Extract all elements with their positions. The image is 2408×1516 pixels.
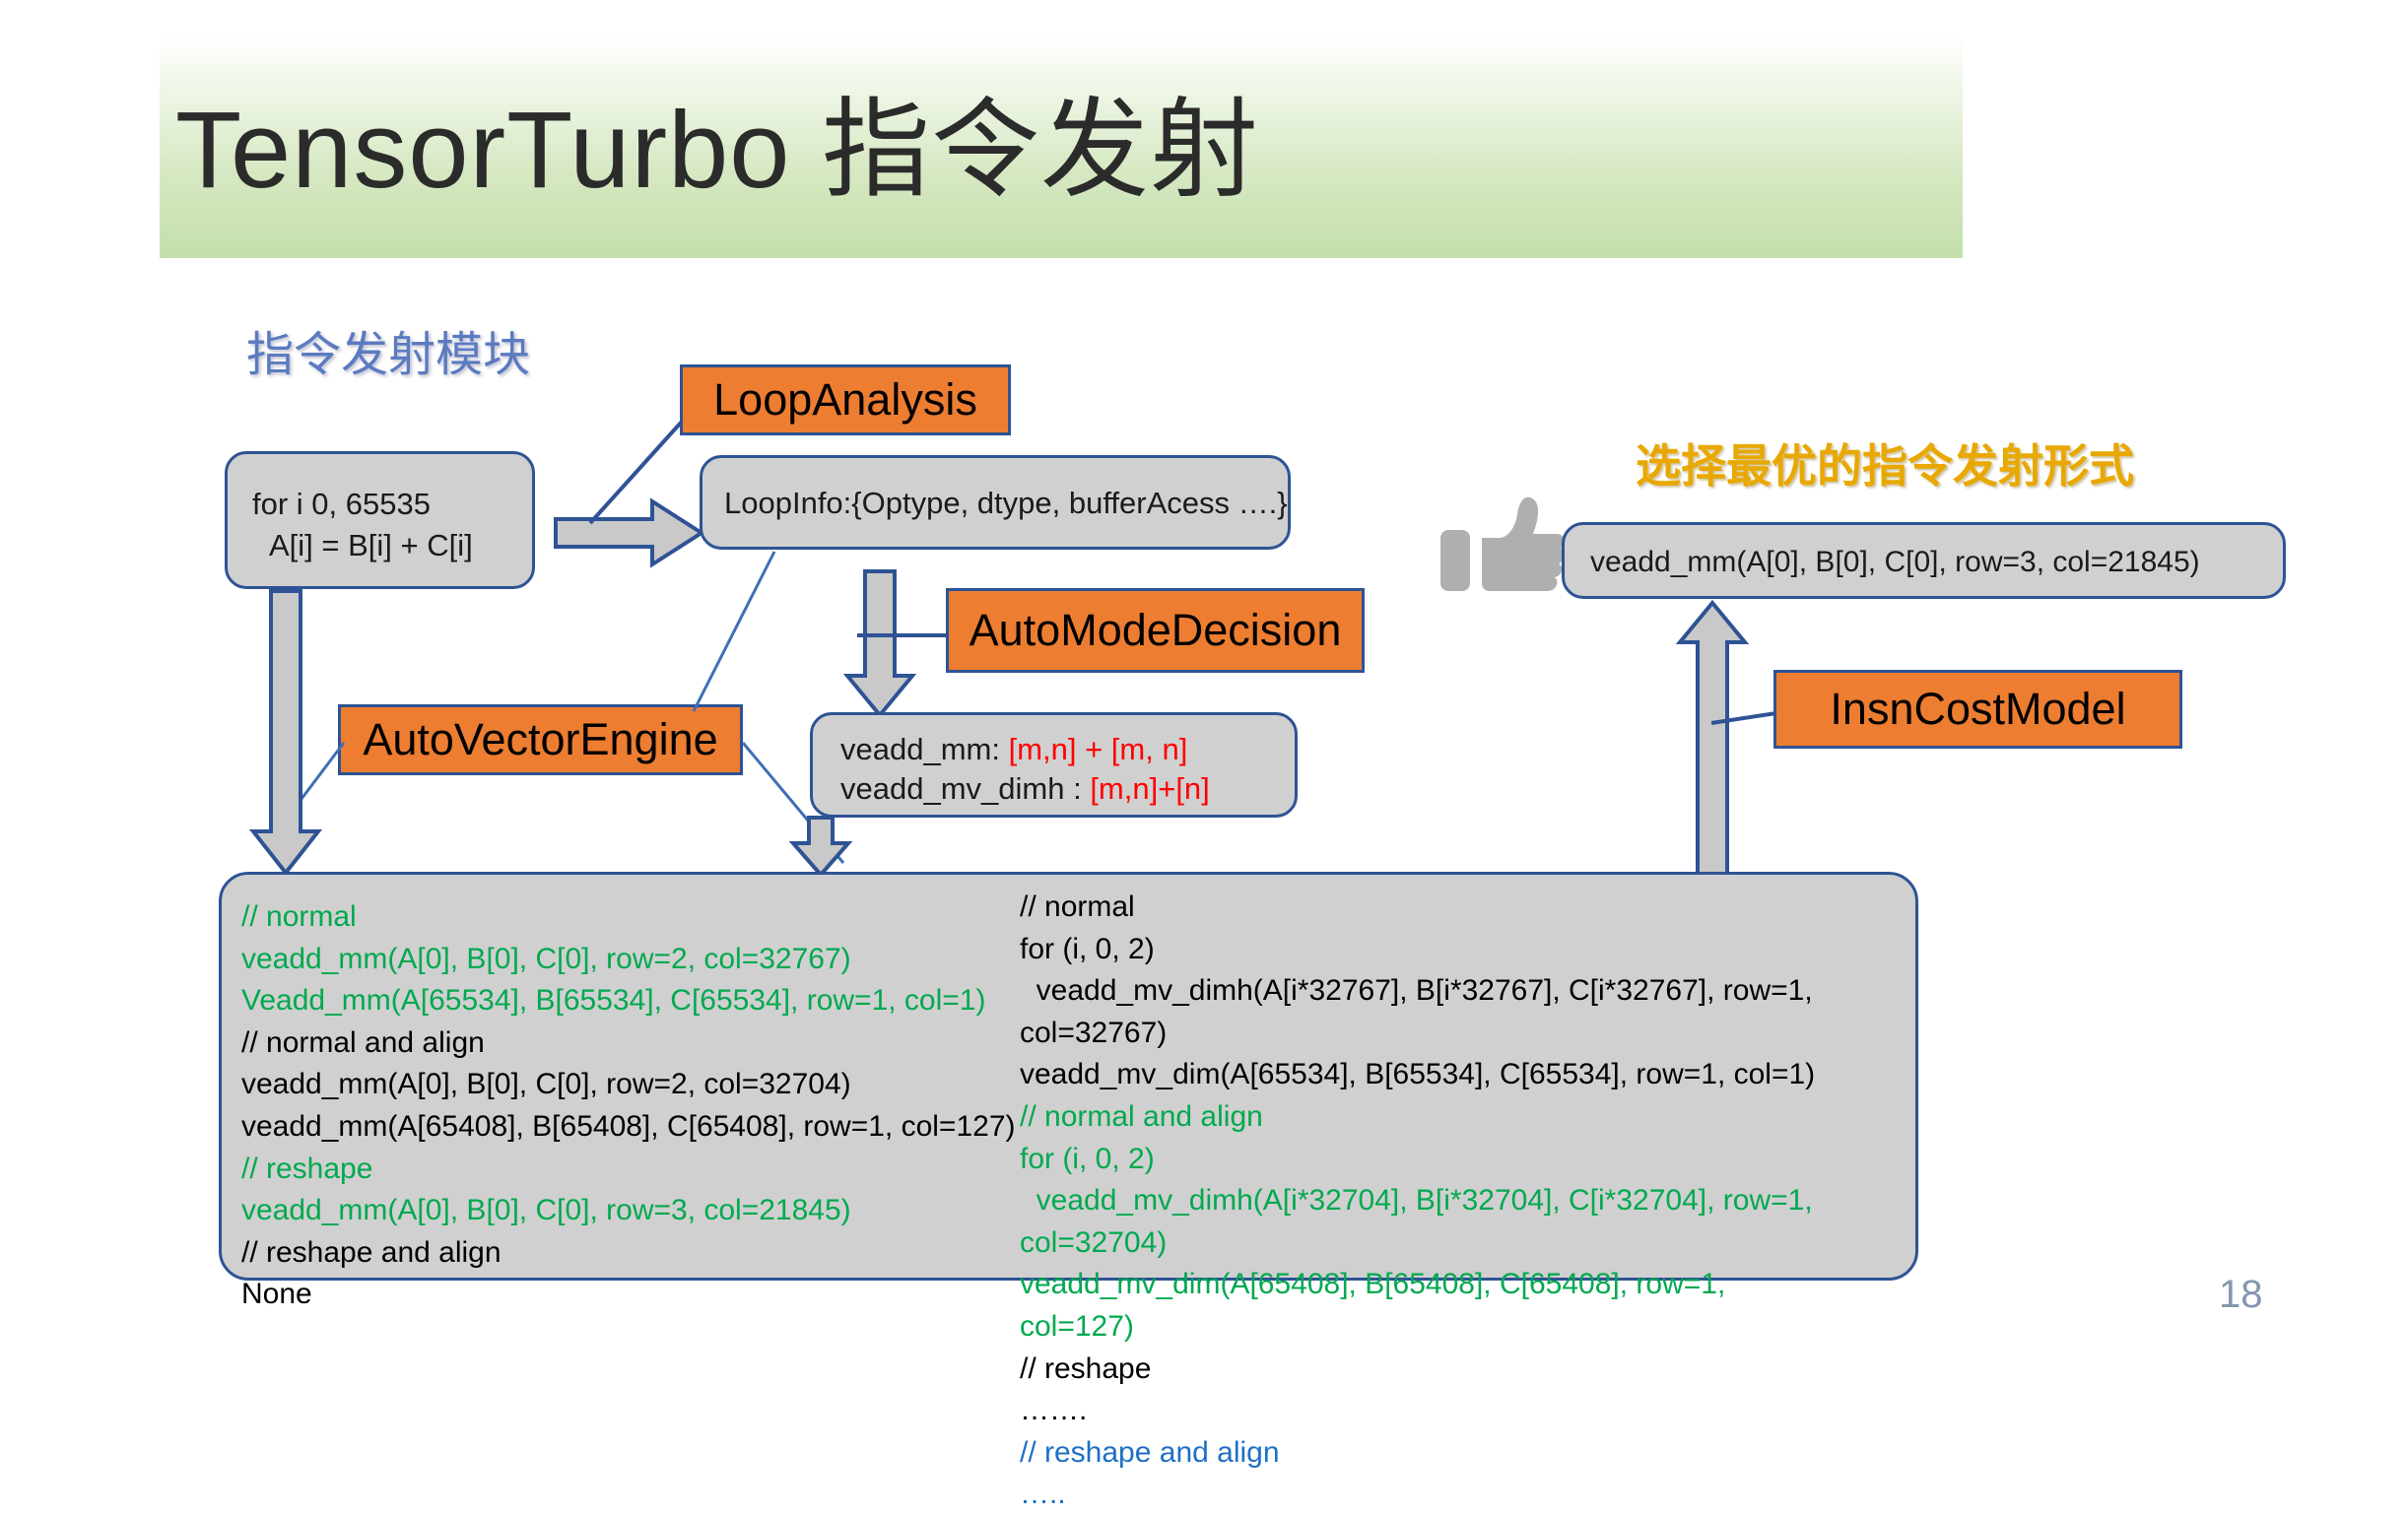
thumbs-up-icon: [1438, 493, 1567, 601]
code-line: veadd_mm(A[0], B[0], C[0], row=2, col=32…: [241, 1064, 1020, 1106]
loop-info-text: LoopInfo:{Optype, dtype, bufferAcess ….}: [724, 486, 1288, 521]
arrow-source-to-code-left: [246, 589, 325, 875]
loop-info-box: LoopInfo:{Optype, dtype, bufferAcess ….}: [700, 455, 1291, 550]
mode-1-shape: [m,n] + [m, n]: [1009, 732, 1188, 766]
source-loop-line1: for i 0, 65535: [252, 487, 431, 522]
mode-1-name: veadd_mm:: [840, 732, 1009, 766]
arrow-code-to-best-choice: [1675, 601, 1750, 877]
mode-2-name: veadd_mv_dimh :: [840, 771, 1090, 806]
code-line: // normal: [241, 896, 1020, 939]
code-line: // normal and align: [1020, 1096, 1838, 1139]
code-column-left: // normalveadd_mm(A[0], B[0], C[0], row=…: [241, 896, 1020, 1316]
section-label: 指令发射模块: [246, 315, 530, 384]
module-insn-cost-model[interactable]: InsnCostModel: [1773, 670, 2182, 749]
code-line: // reshape and align: [241, 1232, 1020, 1275]
code-line: veadd_mv_dimh(A[i*32767], B[i*32767], C[…: [1020, 970, 1838, 1054]
arrow-loopinfo-to-modes: [842, 569, 917, 717]
connector-avs-loopinfo: [690, 548, 778, 715]
page-number: 18: [2219, 1273, 2263, 1317]
module-loop-analysis[interactable]: LoopAnalysis: [680, 364, 1011, 435]
code-line: // reshape: [241, 1149, 1020, 1191]
code-line: // normal and align: [241, 1022, 1020, 1065]
code-line: …….: [1020, 1390, 1838, 1432]
module-auto-mode-decision[interactable]: AutoModeDecision: [946, 588, 1365, 673]
code-line: veadd_mm(A[65408], B[65408], C[65408], r…: [241, 1106, 1020, 1149]
connector-insncostmodel: [1709, 707, 1778, 727]
code-line: Veadd_mm(A[65534], B[65534], C[65534], r…: [241, 980, 1020, 1022]
code-line: veadd_mv_dim(A[65408], B[65408], C[65408…: [1020, 1264, 1838, 1348]
code-line: for (i, 0, 2): [1020, 1139, 1838, 1181]
connector-loopanalysis: [586, 419, 685, 527]
code-line: // normal: [1020, 887, 1838, 929]
modes-box: veadd_mm: [m,n] + [m, n] veadd_mv_dimh :…: [810, 712, 1298, 818]
highlight-label: 选择最优的指令发射形式: [1636, 430, 2134, 495]
code-column-right: // normalfor (i, 0, 2) veadd_mv_dimh(A[i…: [1020, 887, 1838, 1516]
code-line: veadd_mm(A[0], B[0], C[0], row=2, col=32…: [241, 939, 1020, 981]
code-line: None: [241, 1274, 1020, 1316]
code-line: …..: [1020, 1474, 1838, 1516]
code-line: // reshape and align: [1020, 1432, 1838, 1475]
source-loop-line2: A[i] = B[i] + C[i]: [269, 528, 473, 563]
source-loop-box: for i 0, 65535 A[i] = B[i] + C[i]: [225, 451, 535, 589]
code-line: veadd_mv_dim(A[65534], B[65534], C[65534…: [1020, 1054, 1838, 1096]
connector-automodedecision: [855, 626, 950, 634]
arrow-modes-to-code-right: [788, 816, 853, 877]
page-title: TensorTurbo 指令发射: [175, 77, 1949, 234]
mode-2-shape: [m,n]+[n]: [1090, 771, 1209, 806]
module-auto-vector-engine[interactable]: AutoVectorEngine: [338, 704, 743, 775]
code-line: // reshape: [1020, 1349, 1838, 1391]
code-line: veadd_mm(A[0], B[0], C[0], row=3, col=21…: [241, 1190, 1020, 1232]
code-line: for (i, 0, 2): [1020, 929, 1838, 971]
best-choice-text: veadd_mm(A[0], B[0], C[0], row=3, col=21…: [1590, 546, 2200, 579]
code-line: veadd_mv_dimh(A[i*32704], B[i*32704], C[…: [1020, 1180, 1838, 1264]
best-choice-box: veadd_mm(A[0], B[0], C[0], row=3, col=21…: [1562, 522, 2286, 599]
